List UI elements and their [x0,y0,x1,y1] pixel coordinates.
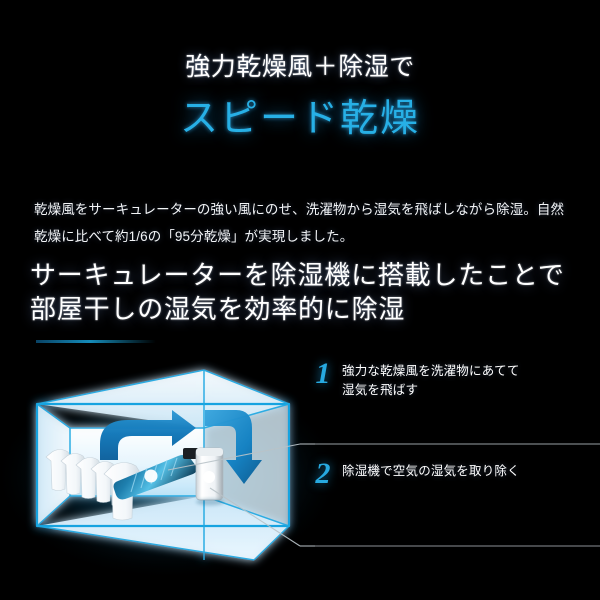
callout-1: 1 強力な乾燥風を洗濯物にあてて 湿気を飛ばす [313,360,520,400]
callout-2-text: 除湿機で空気の湿気を取り除く [342,460,520,481]
hero-subheading: 強力乾燥風＋除湿で [0,52,600,82]
callout-2-line-1: 除湿機で空気の湿気を取り除く [342,462,520,481]
lead-paragraph: 乾燥風をサーキュレーターの強い風にのせ、洗濯物から湿気を飛ばしながら除湿。自然乾… [34,196,572,250]
callout-2: 2 除湿機で空気の湿気を取り除く [313,460,520,488]
product-feature-page: 強力乾燥風＋除湿で スピード乾燥 乾燥風をサーキュレーターの強い風にのせ、洗濯物… [0,0,600,600]
section-heading-line-1: サーキュレーターを除湿機に搭載したことで [30,258,590,292]
callout-1-number: 1 [313,360,333,388]
callout-1-text: 強力な乾燥風を洗濯物にあてて 湿気を飛ばす [342,360,520,400]
dehumidifier-unit [196,448,224,506]
room-airflow-diagram: 1 強力な乾燥風を洗濯物にあてて 湿気を飛ばす 2 除湿機で空気の湿気を取り除く [0,348,600,600]
hero-block: 強力乾燥風＋除湿で スピード乾燥 [0,52,600,142]
callout-1-line-2: 湿気を飛ばす [342,381,520,400]
callout-1-line-1: 強力な乾燥風を洗濯物にあてて [342,362,520,381]
section-divider [36,340,156,343]
hero-heading: スピード乾燥 [0,96,600,142]
section-heading-line-2: 部屋干しの湿気を効率的に除湿 [30,292,590,326]
callout-2-number: 2 [313,460,333,488]
section-heading: サーキュレーターを除湿機に搭載したことで 部屋干しの湿気を効率的に除湿 [30,258,590,326]
